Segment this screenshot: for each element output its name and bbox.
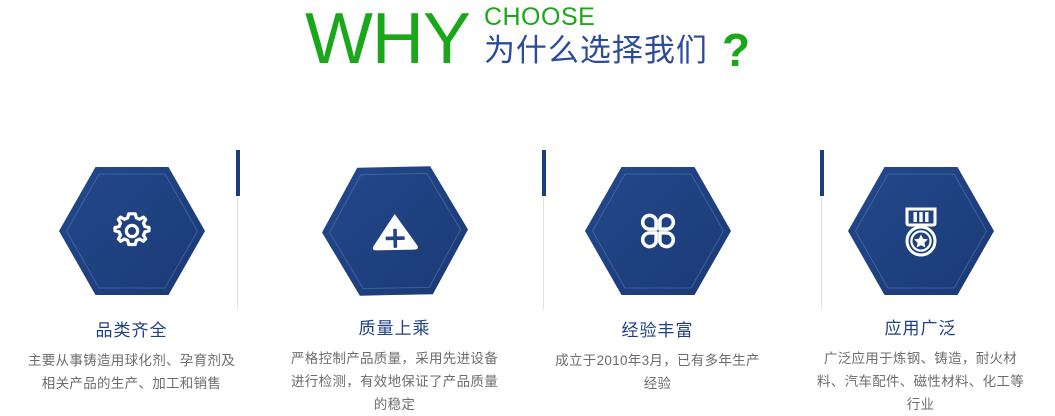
gear-icon — [107, 206, 157, 256]
feature-card-2[interactable]: 质量上乘 严格控制产品质量，采用先进设备进行检测，有效地保证了产品质量的稳定 — [263, 150, 526, 416]
divider-gray-line — [237, 196, 238, 310]
card-title: 品类齐全 — [96, 321, 168, 341]
header-chinese-title: 为什么选择我们 — [484, 33, 708, 69]
divider-gray-line — [821, 196, 822, 310]
card-title: 质量上乘 — [359, 319, 431, 339]
divider-2 — [542, 150, 546, 310]
header-question-mark: ? — [722, 30, 750, 70]
section-header: WHY CHOOSE 为什么选择我们 ? — [0, 0, 1055, 100]
hexagon-badge-2 — [320, 163, 469, 296]
header-choose-text: CHOOSE — [484, 4, 750, 30]
feature-card-1[interactable]: 品类齐全 主要从事铸造用球化剂、孕育剂及相关产品的生产、加工和销售 — [0, 150, 263, 416]
card-title: 应用广泛 — [885, 319, 957, 339]
header-why-text: WHY — [305, 2, 470, 76]
card-description: 严格控制产品质量，采用先进设备进行检测，有效地保证了产品质量的稳定 — [287, 347, 502, 416]
hexagon-badge-1 — [59, 165, 205, 297]
feature-card-4[interactable]: 应用广泛 广泛应用于炼钢、铸造，耐火材料、汽车配件、磁性材料、化工等行业 — [789, 150, 1052, 416]
divider-blue-segment — [542, 150, 546, 196]
divider-gray-line — [543, 196, 544, 310]
divider-blue-segment — [236, 150, 240, 196]
divider-blue-segment — [820, 150, 824, 196]
card-title: 经验丰富 — [622, 321, 694, 341]
feature-card-3[interactable]: 经验丰富 成立于2010年3月，已有多年生产经验 — [526, 150, 789, 416]
triangle-plus-icon — [366, 205, 423, 256]
card-description: 主要从事铸造用球化剂、孕育剂及相关产品的生产、加工和销售 — [24, 349, 239, 395]
feature-cards-row: 品类齐全 主要从事铸造用球化剂、孕育剂及相关产品的生产、加工和销售 — [0, 150, 1055, 416]
hexagon-badge-4 — [848, 165, 994, 295]
divider-3 — [820, 150, 824, 310]
clover-icon — [633, 206, 683, 256]
card-description: 成立于2010年3月，已有多年生产经验 — [550, 349, 765, 395]
divider-1 — [236, 150, 240, 310]
hexagon-badge-3 — [585, 165, 731, 297]
card-description: 广泛应用于炼钢、铸造，耐火材料、汽车配件、磁性材料、化工等行业 — [813, 347, 1028, 416]
medal-icon — [895, 203, 947, 259]
